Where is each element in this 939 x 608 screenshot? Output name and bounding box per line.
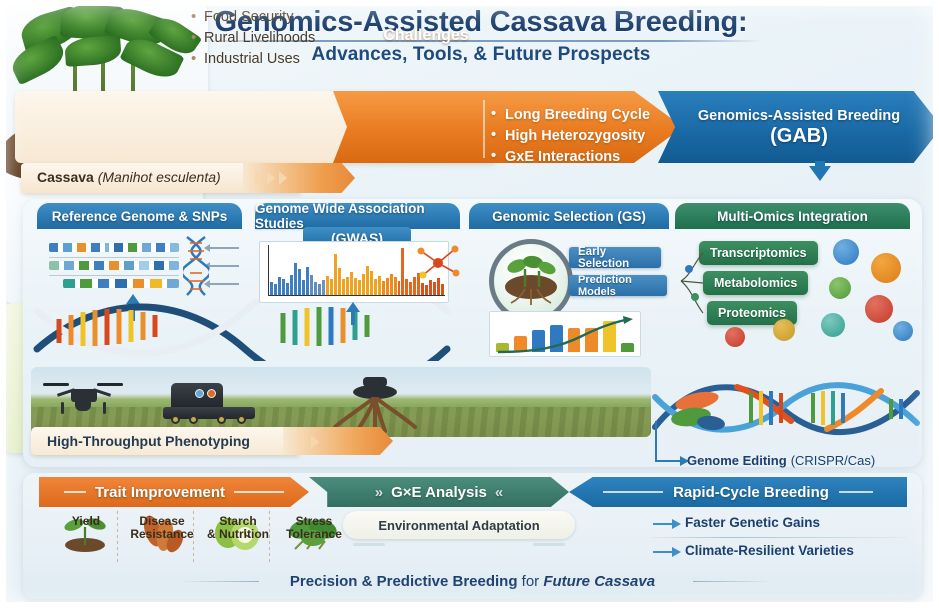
chart-y-axis [268, 245, 269, 295]
chart-bar [362, 274, 365, 295]
tag-metabolomics: Metabolomics [703, 271, 808, 295]
chart-bar [306, 267, 309, 295]
chart-bar [394, 277, 397, 295]
decorative-rule [603, 491, 663, 493]
connector-line [655, 421, 657, 461]
chart-bar [425, 285, 428, 295]
panel-title-genomic-selection: Genomic Selection (GS) [469, 203, 669, 229]
list-item: Long Breeding Cycle [491, 105, 650, 126]
chart-bar [370, 271, 373, 295]
cassava-caption: Cassava (Manihot esculenta) [37, 169, 221, 185]
chart-bar [374, 279, 377, 295]
snp-track [63, 279, 179, 288]
connector-lines [675, 241, 707, 323]
chart-bar [358, 280, 361, 295]
dna-helix-icon [183, 235, 209, 297]
chart-bar [342, 279, 345, 295]
molecule-icon [773, 319, 795, 341]
chart-bar [346, 277, 349, 295]
molecule-icon [893, 321, 913, 341]
chart-bar [310, 275, 313, 295]
panel-title-reference-genome: Reference Genome & SNPs [37, 203, 242, 229]
gab-title-line2: (GAB) [675, 125, 923, 148]
chart-bar [282, 279, 285, 295]
chart-bar [405, 279, 408, 295]
list-item: GxE Interactions [491, 147, 650, 168]
chart-bar [290, 275, 293, 295]
chart-bar [401, 248, 404, 295]
importance-list: Food Security Rural Livelihoods Industri… [191, 7, 315, 70]
chart-bar [441, 284, 444, 295]
rapid-cycle-label: Rapid-Cycle Breeding [673, 484, 829, 501]
environmental-adaptation-pill: Environmental Adaptation [343, 511, 575, 539]
chart-bar [421, 283, 424, 295]
trait-label: Yield [49, 515, 123, 528]
chart-bar [409, 282, 412, 295]
divider [651, 537, 907, 538]
genome-editing-label: Genome Editing (CRISPR/Cas) [687, 453, 875, 469]
chart-bar [433, 282, 436, 295]
cassava-common-name: Cassava [37, 169, 94, 185]
list-item: Food Security [191, 7, 315, 28]
chart-bar [378, 276, 381, 295]
chart-bar [350, 272, 353, 295]
chart-bar [354, 278, 357, 295]
decorative-rule [533, 543, 565, 546]
chevrons-right-icon: » [375, 484, 383, 501]
chevron-right-icon [267, 171, 275, 185]
phenotyping-label: High-Throughput Phenotyping [47, 433, 250, 449]
chart-bar [318, 284, 321, 295]
decorative-rule [693, 581, 773, 582]
footer-part2: for [522, 573, 540, 590]
chevrons-left-icon: « [495, 484, 503, 501]
chart-bar [390, 274, 393, 295]
chart-bar [298, 269, 301, 295]
chart-bar [278, 277, 281, 295]
rapid-cycle-item-2: Climate-Resilient Varieties [685, 543, 854, 558]
annotation-arrow [209, 283, 239, 285]
dna-double-helix-graphic [31, 299, 451, 361]
chart-bar [366, 266, 369, 295]
decorative-rule [234, 491, 284, 493]
divider [269, 511, 270, 563]
chart-bar [302, 280, 305, 295]
genome-editing-title: Genome Editing [687, 453, 787, 468]
arrow-right-icon [655, 460, 681, 462]
rapid-cycle-header: Rapid-Cycle Breeding [569, 477, 907, 507]
seedling-icon [503, 253, 559, 309]
chevron-right-icon [279, 171, 287, 185]
cassava-species-name: (Manihot esculenta) [98, 169, 221, 185]
trait-label-line2: & Nutrition [201, 528, 275, 541]
snp-track [49, 243, 179, 252]
molecule-icon [833, 239, 859, 265]
chart-bar [326, 276, 329, 295]
gxe-header: » G×E Analysis « [309, 477, 569, 507]
list-item: Rural Livelihoods [191, 28, 315, 49]
rapid-cycle-item-1: Faster Genetic Gains [685, 515, 820, 530]
annotation-arrow [209, 247, 239, 249]
tag-early-selection: Early Selection [569, 247, 661, 268]
decorative-rule [839, 491, 873, 493]
chart-bar [398, 281, 401, 295]
gxe-label: G×E Analysis [391, 484, 487, 501]
panel-title-gwas: Genome Wide Association Studies [255, 203, 460, 229]
list-item: Industrial Uses [191, 49, 315, 70]
divider [117, 511, 118, 563]
trait-yield: Yield [49, 515, 123, 528]
chart-bar [294, 263, 297, 295]
panel-title-multi-omics: Multi-Omics Integration [675, 203, 910, 229]
decorative-rule [179, 581, 259, 582]
chart-bar [386, 278, 389, 295]
trait-stress-tolerance: Stress Tolerance [277, 515, 351, 541]
footer-part1: Precision & Predictive Breeding [290, 573, 518, 590]
tag-prediction-models: Prediction Models [569, 275, 667, 296]
chart-bar [334, 254, 337, 295]
tag-transcriptomics: Transcriptomics [699, 241, 818, 265]
gab-title-line1: Genomics-Assisted Breeding [675, 108, 923, 124]
genome-line [49, 257, 179, 258]
arrow-up-icon [351, 311, 355, 325]
chevron-right-icon [255, 171, 263, 185]
chart-bar [330, 279, 333, 295]
trait-label-line2: Resistance [125, 528, 199, 541]
chart-bar [322, 280, 325, 295]
arrow-right-icon [653, 551, 673, 553]
chart-bar [314, 282, 317, 295]
arrow-down-icon [809, 166, 831, 181]
genomic-selection-gain-chart [489, 311, 641, 357]
chart-bar [270, 282, 273, 295]
challenges-divider [483, 100, 485, 158]
decorative-rule [64, 491, 86, 493]
trend-line [490, 312, 642, 358]
chart-bar [382, 281, 385, 295]
molecule-icon [725, 327, 745, 347]
infographic-poster: Genomics-Assisted Cassava Breeding: Adva… [0, 0, 939, 608]
snp-track [49, 261, 179, 270]
trait-improvement-label: Trait Improvement [95, 484, 225, 501]
trait-label-line2: Tolerance [277, 528, 351, 541]
trait-improvement-header: Trait Improvement [39, 477, 309, 507]
molecule-icon [865, 295, 893, 323]
chart-bar [286, 283, 289, 295]
footer-statement: Precision & Predictive Breeding for Futu… [3, 573, 939, 590]
chart-bar [274, 284, 277, 295]
trait-disease-resistance: Disease Resistance [125, 515, 199, 541]
challenges-list: Long Breeding Cycle High Heterozygosity … [491, 105, 650, 168]
genome-editing-helix-graphic [651, 373, 923, 445]
challenges-label: Challenges [369, 27, 483, 45]
network-graph-icon [415, 243, 461, 283]
footer-part3: Future Cassava [543, 573, 655, 590]
arrow-right-icon [653, 523, 673, 525]
list-item: High Heterozygosity [491, 126, 650, 147]
chart-bar [338, 268, 341, 295]
decorative-rule [353, 543, 385, 546]
annotation-arrow [209, 265, 239, 267]
trait-starch-nutrition: Starch & Nutrition [201, 515, 275, 541]
molecule-icon [821, 313, 845, 337]
molecule-icon [829, 277, 851, 299]
molecule-icon [871, 253, 901, 283]
genome-line [49, 275, 179, 276]
genome-editing-note: (CRISPR/Cas) [791, 453, 876, 468]
divider [193, 511, 194, 563]
